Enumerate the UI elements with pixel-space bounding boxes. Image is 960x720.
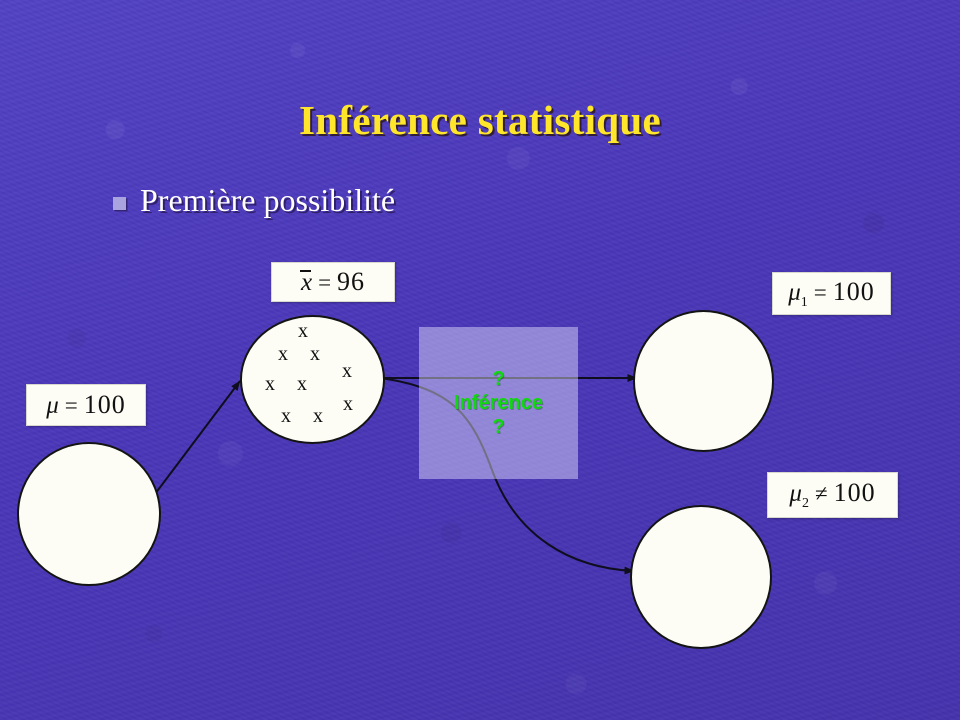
population-mean-box: μ = 100 <box>26 384 146 426</box>
not-equals-operator: ≠ <box>815 481 828 507</box>
observation-x: x <box>313 406 323 426</box>
inference-panel-label: ? Inférence ? <box>419 327 578 479</box>
population-circle <box>17 442 161 586</box>
observation-x: x <box>297 374 307 394</box>
hypothesis-2-box: μ2 ≠ 100 <box>767 472 898 518</box>
observation-x: x <box>342 361 352 381</box>
observation-x: x <box>265 374 275 394</box>
mu-2-symbol: μ2 <box>789 480 809 512</box>
observation-x: x <box>343 394 353 414</box>
observation-x: x <box>310 344 320 364</box>
x-bar-symbol: x <box>301 269 312 297</box>
observation-x: x <box>281 406 291 426</box>
hypothesis-1-value: 100 <box>833 277 875 307</box>
hypothesis-1-box: μ1 = 100 <box>772 272 891 315</box>
equals-operator: = <box>318 270 331 296</box>
question-mark-bottom: ? <box>492 417 504 438</box>
observation-x: x <box>278 344 288 364</box>
sample-mean-value: 96 <box>337 267 365 297</box>
arrow-population-to-sample <box>152 381 240 498</box>
sample-mean-box: x = 96 <box>271 262 395 302</box>
slide-canvas: Inférence statistique Première possibili… <box>0 0 960 720</box>
observation-x: x <box>298 321 308 341</box>
equals-operator: = <box>65 393 78 419</box>
mu-symbol: μ <box>46 392 59 420</box>
hypothesis-1-circle <box>633 310 774 452</box>
inference-word: Inférence <box>454 392 543 415</box>
equals-operator: = <box>814 280 827 306</box>
hypothesis-2-value: 100 <box>834 478 876 508</box>
question-mark-top: ? <box>492 369 504 390</box>
mu-1-symbol: μ1 <box>788 279 808 311</box>
hypothesis-2-circle <box>630 505 772 649</box>
population-mean-value: 100 <box>84 390 126 420</box>
